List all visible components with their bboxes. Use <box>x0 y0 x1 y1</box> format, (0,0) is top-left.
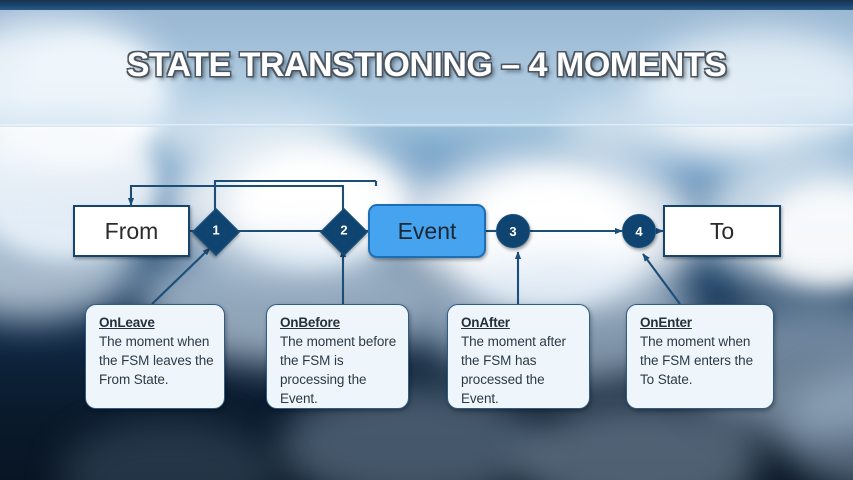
marker-1-label: 1 <box>200 215 232 247</box>
state-transition-diagram: From Event To 1 2 3 4 OnLeave The moment… <box>0 0 853 480</box>
state-label-event: Event <box>398 218 457 245</box>
callout-onleave-title: OnLeave <box>99 315 155 330</box>
callout-onenter[interactable]: OnEnter The moment when the FSM enters t… <box>626 304 774 409</box>
state-box-from[interactable]: From <box>73 205 190 257</box>
callout-onbefore-title: OnBefore <box>280 315 340 330</box>
marker-3-label: 3 <box>509 224 516 239</box>
marker-2-label: 2 <box>328 215 360 247</box>
marker-3[interactable]: 3 <box>496 214 530 248</box>
callout-onafter[interactable]: OnAfter The moment after the FSM has pro… <box>447 304 590 409</box>
state-label-to: To <box>710 218 734 245</box>
callout-onenter-body: The moment when the FSM enters the To St… <box>640 332 763 389</box>
callout-onafter-title: OnAfter <box>461 315 510 330</box>
callout-onleave[interactable]: OnLeave The moment when the FSM leaves t… <box>85 304 225 409</box>
callout-onbefore[interactable]: OnBefore The moment before the FSM is pr… <box>266 304 409 409</box>
callout-onbefore-body: The moment before the FSM is processing … <box>280 332 398 408</box>
presentation-slide: STATE TRANSTIONING – 4 MOMENTS <box>0 0 853 480</box>
state-label-from: From <box>105 218 159 245</box>
state-box-to[interactable]: To <box>663 205 781 257</box>
callout-onenter-title: OnEnter <box>640 315 692 330</box>
callout-onleave-body: The moment when the FSM leaves the From … <box>99 332 214 389</box>
callout-onafter-body: The moment after the FSM has processed t… <box>461 332 579 408</box>
marker-4[interactable]: 4 <box>622 214 656 248</box>
state-box-event[interactable]: Event <box>368 204 486 258</box>
marker-4-label: 4 <box>635 224 642 239</box>
